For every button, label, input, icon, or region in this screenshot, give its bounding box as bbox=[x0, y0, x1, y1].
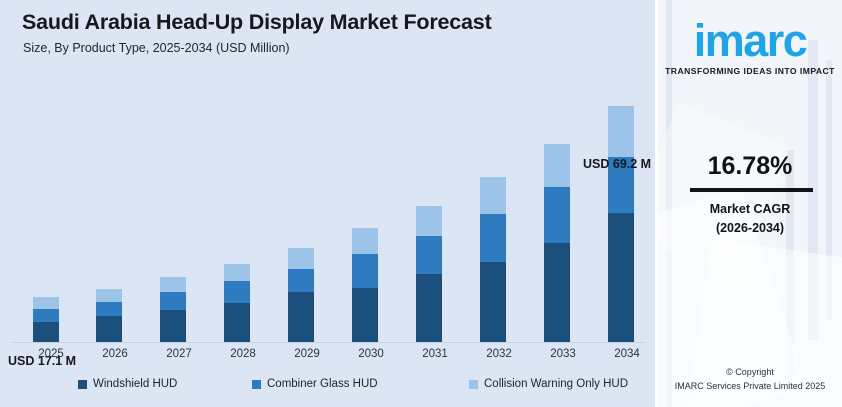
x-axis-label-2034: 2034 bbox=[597, 348, 657, 360]
bar-segment-combiner-glass-hud bbox=[288, 269, 314, 292]
imarc-logo: imarc TRANSFORMING IDEAS INTO IMPACT bbox=[658, 18, 842, 76]
legend-label: Combiner Glass HUD bbox=[267, 378, 378, 390]
chart-panel: Saudi Arabia Head-Up Display Market Fore… bbox=[0, 0, 655, 407]
x-axis-label-2028: 2028 bbox=[213, 348, 273, 360]
x-axis-label-2033: 2033 bbox=[533, 348, 593, 360]
copyright-line2: IMARC Services Private Limited 2025 bbox=[658, 380, 842, 394]
bar-segment-collision-warning-only-hud bbox=[33, 297, 59, 309]
bar-segment-collision-warning-only-hud bbox=[96, 289, 122, 302]
bar-segment-collision-warning-only-hud bbox=[480, 177, 506, 214]
bar-segment-windshield-hud bbox=[352, 288, 378, 342]
bar-segment-windshield-hud bbox=[224, 303, 250, 342]
legend-swatch-icon bbox=[252, 380, 261, 389]
infographic-root: Saudi Arabia Head-Up Display Market Fore… bbox=[0, 0, 842, 407]
bar-segment-combiner-glass-hud bbox=[160, 292, 186, 310]
legend-item-windshield-hud[interactable]: Windshield HUD bbox=[78, 378, 177, 390]
bar-segment-combiner-glass-hud bbox=[96, 302, 122, 316]
bar-segment-combiner-glass-hud bbox=[416, 236, 442, 274]
legend-item-combiner-glass-hud[interactable]: Combiner Glass HUD bbox=[252, 378, 378, 390]
bar-2025[interactable] bbox=[33, 297, 59, 342]
logo-wordmark: imarc bbox=[694, 18, 807, 63]
bar-2033[interactable] bbox=[544, 144, 570, 342]
bar-2030[interactable] bbox=[352, 228, 378, 342]
logo-tagline: TRANSFORMING IDEAS INTO IMPACT bbox=[658, 66, 842, 76]
bar-segment-collision-warning-only-hud bbox=[160, 277, 186, 292]
x-axis-label-2027: 2027 bbox=[149, 348, 209, 360]
bar-segment-windshield-hud bbox=[480, 262, 506, 342]
legend-item-collision-warning-only-hud[interactable]: Collision Warning Only HUD bbox=[469, 378, 628, 390]
cagr-label-line2: (2026-2034) bbox=[658, 219, 842, 238]
x-axis-label-2026: 2026 bbox=[85, 348, 145, 360]
bar-segment-collision-warning-only-hud bbox=[544, 144, 570, 187]
bar-segment-windshield-hud bbox=[96, 316, 122, 342]
callout-end-value: USD 69.2 M bbox=[583, 157, 651, 171]
bar-segment-windshield-hud bbox=[608, 213, 634, 342]
legend-label: Windshield HUD bbox=[93, 378, 177, 390]
x-axis-label-2025: 2025 bbox=[21, 348, 81, 360]
legend-swatch-icon bbox=[469, 380, 478, 389]
bar-segment-windshield-hud bbox=[544, 243, 570, 342]
bar-segment-collision-warning-only-hud bbox=[608, 106, 634, 157]
chart-legend: Windshield HUDCombiner Glass HUDCollisio… bbox=[0, 372, 655, 396]
legend-swatch-icon bbox=[78, 380, 87, 389]
cagr-divider bbox=[690, 188, 813, 192]
brand-panel: imarc TRANSFORMING IDEAS INTO IMPACT 16.… bbox=[655, 0, 842, 407]
x-axis-label-2030: 2030 bbox=[341, 348, 401, 360]
bar-segment-combiner-glass-hud bbox=[224, 281, 250, 303]
bar-segment-collision-warning-only-hud bbox=[352, 228, 378, 254]
bar-2026[interactable] bbox=[96, 289, 122, 342]
bar-segment-windshield-hud bbox=[416, 274, 442, 342]
chart-header: Saudi Arabia Head-Up Display Market Fore… bbox=[22, 10, 492, 55]
bar-2029[interactable] bbox=[288, 248, 314, 342]
bar-segment-windshield-hud bbox=[288, 292, 314, 342]
bar-2031[interactable] bbox=[416, 206, 442, 342]
bar-2028[interactable] bbox=[224, 264, 250, 342]
x-axis-label-2031: 2031 bbox=[405, 348, 465, 360]
axis-baseline bbox=[12, 342, 645, 343]
cagr-label-line1: Market CAGR bbox=[658, 200, 842, 219]
bar-segment-combiner-glass-hud bbox=[480, 214, 506, 262]
x-axis-label-2032: 2032 bbox=[469, 348, 529, 360]
x-axis: 2025202620272028202920302031203220332034 bbox=[0, 344, 655, 368]
copyright-line1: © Copyright bbox=[658, 366, 842, 380]
cagr-label: Market CAGR (2026-2034) bbox=[658, 200, 842, 239]
bar-2027[interactable] bbox=[160, 277, 186, 342]
plot-area: USD 17.1 M USD 69.2 M bbox=[0, 75, 655, 343]
bar-segment-collision-warning-only-hud bbox=[224, 264, 250, 281]
bar-segment-combiner-glass-hud bbox=[544, 187, 570, 243]
bar-segment-collision-warning-only-hud bbox=[416, 206, 442, 236]
bar-segment-collision-warning-only-hud bbox=[288, 248, 314, 269]
copyright-notice: © Copyright IMARC Services Private Limit… bbox=[658, 366, 842, 393]
chart-subtitle: Size, By Product Type, 2025-2034 (USD Mi… bbox=[23, 41, 492, 55]
bar-2034[interactable] bbox=[608, 106, 634, 342]
page-title: Saudi Arabia Head-Up Display Market Fore… bbox=[22, 10, 492, 35]
bar-2032[interactable] bbox=[480, 177, 506, 342]
bar-segment-combiner-glass-hud bbox=[33, 309, 59, 322]
bar-segment-windshield-hud bbox=[160, 310, 186, 342]
legend-label: Collision Warning Only HUD bbox=[484, 378, 628, 390]
cagr-value: 16.78% bbox=[658, 152, 842, 181]
x-axis-label-2029: 2029 bbox=[277, 348, 337, 360]
bar-segment-windshield-hud bbox=[33, 322, 59, 342]
bar-segment-combiner-glass-hud bbox=[352, 254, 378, 288]
